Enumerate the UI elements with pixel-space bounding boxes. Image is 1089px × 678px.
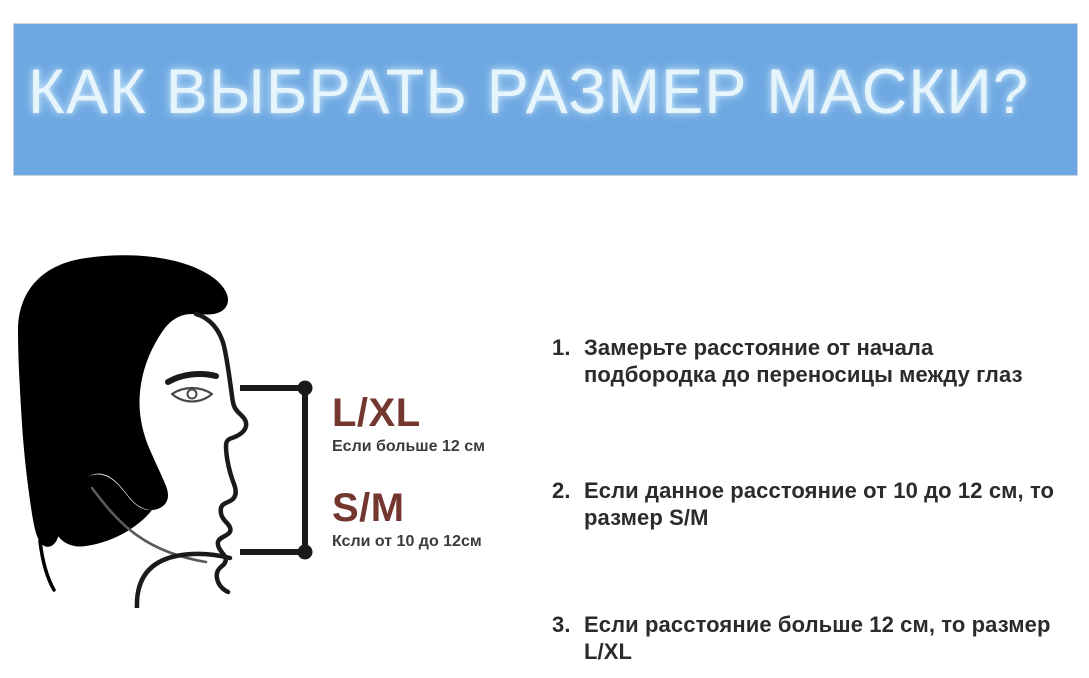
step-2-text: Если данное расстояние от 10 до 12 см, т… [584, 477, 1057, 531]
infographic-page: КАК ВЫБРАТЬ РАЗМЕР МАСКИ? [0, 0, 1089, 678]
header-banner: КАК ВЫБРАТЬ РАЗМЕР МАСКИ? [14, 24, 1077, 175]
instruction-step-1: 1. Замерьте расстояние от начала подборо… [552, 334, 1057, 388]
size-note-lxl: Если больше 12 см [332, 437, 485, 456]
size-label-lxl: L/XL Если больше 12 см [332, 392, 485, 456]
measurement-bracket [243, 388, 305, 552]
instruction-step-3: 3. Если расстояние больше 12 см, то разм… [552, 611, 1057, 665]
size-note-sm: Ксли от 10 до 12см [332, 532, 482, 551]
page-title: КАК ВЫБРАТЬ РАЗМЕР МАСКИ? [28, 54, 1063, 130]
head-profile-illustration [0, 236, 340, 608]
step-1-text: Замерьте расстояние от начала подбородка… [584, 334, 1057, 388]
size-name-lxl: L/XL [332, 392, 485, 434]
step-2-number: 2. [552, 477, 584, 504]
hair-strand [40, 541, 54, 590]
eye-pupil [188, 390, 197, 399]
step-3-text: Если расстояние больше 12 см, то размер … [584, 611, 1057, 665]
step-1-number: 1. [552, 334, 584, 361]
bracket-top-dot [298, 381, 313, 396]
size-name-sm: S/M [332, 487, 482, 529]
instruction-step-2: 2. Если данное расстояние от 10 до 12 см… [552, 477, 1057, 531]
step-3-number: 3. [552, 611, 584, 638]
bracket-bottom-dot [298, 545, 313, 560]
face-outline [196, 314, 246, 592]
size-label-sm: S/M Ксли от 10 до 12см [332, 487, 482, 551]
eyebrow [168, 374, 216, 382]
